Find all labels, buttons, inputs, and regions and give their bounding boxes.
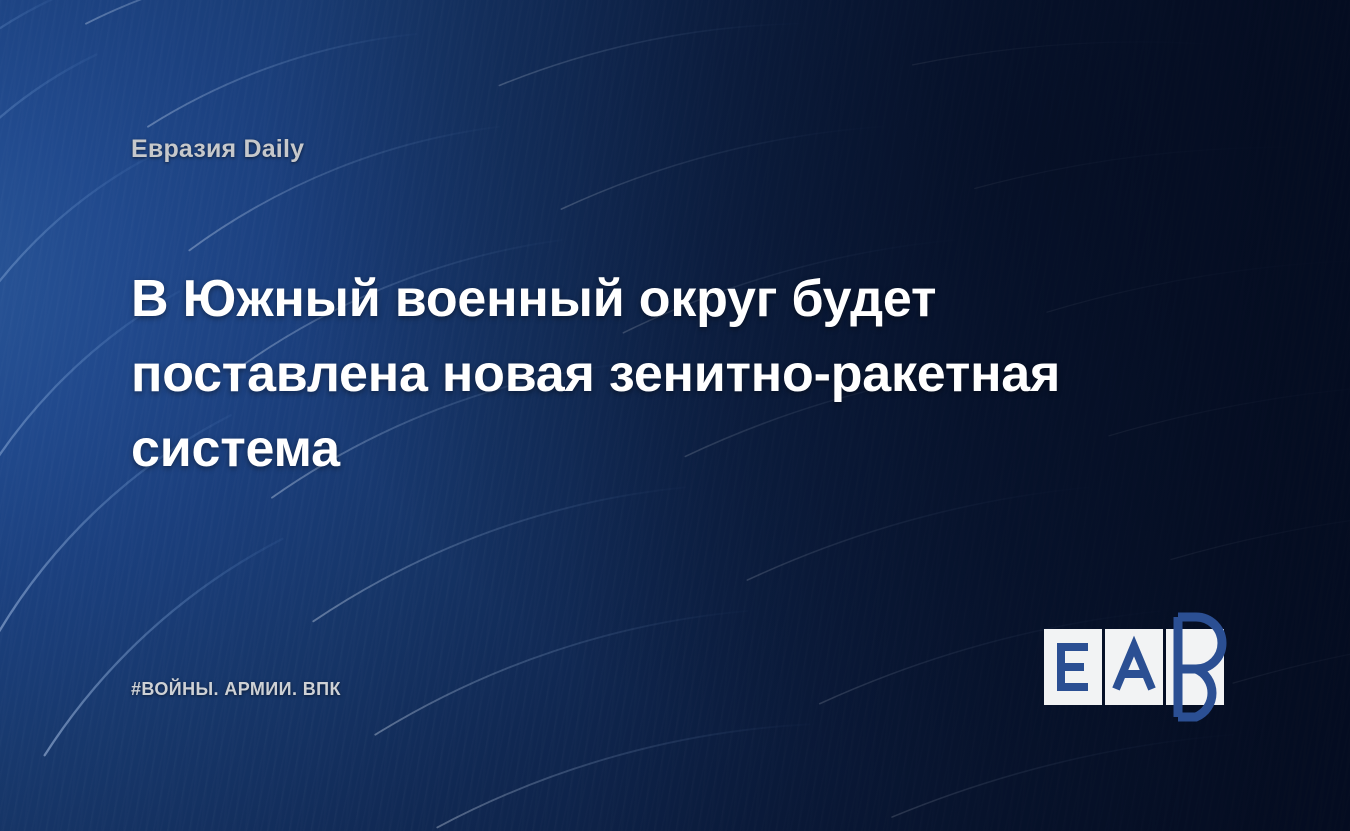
article-headline: В Южный военный округ будет поставлена н…: [131, 262, 1141, 487]
eadaily-logo[interactable]: [1044, 629, 1224, 705]
logo-tile-a: [1105, 629, 1163, 705]
logo-tile-e: [1044, 629, 1102, 705]
news-card: Евразия Daily В Южный военный округ буде…: [0, 0, 1350, 831]
logo-tile-d: [1166, 629, 1224, 705]
category-tag[interactable]: #ВОЙНЫ. АРМИИ. ВПК: [131, 679, 341, 700]
site-brand-label: Евразия Daily: [131, 135, 304, 164]
